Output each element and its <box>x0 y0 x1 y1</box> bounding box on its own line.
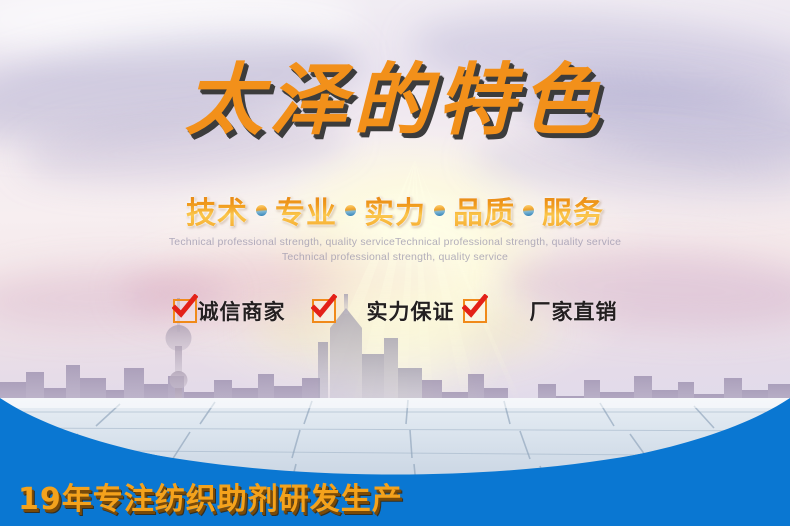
bottom-tagline: 19年专注纺织助剂研发生产 <box>18 474 403 518</box>
bullet-sphere-icon <box>434 205 445 216</box>
english-tagline-line-1: Technical professional strength, quality… <box>0 236 790 248</box>
subtitle-word-2: 专业 <box>275 188 337 232</box>
checkbox-checked-icon <box>173 299 197 323</box>
checkbox-checked-icon <box>463 299 487 323</box>
subtitle-word-1: 技术 <box>186 188 248 232</box>
english-tagline-line-2: Technical professional strength, quality… <box>0 251 790 263</box>
trust-badge-2-label: 实力保证 <box>367 296 455 326</box>
bullet-sphere-icon <box>523 205 534 216</box>
subtitle-word-3: 实力 <box>364 188 426 232</box>
trust-badge-3: 厂家直销 <box>463 296 618 326</box>
trust-badge-3-label: 厂家直销 <box>530 296 618 326</box>
subtitle-word-5: 服务 <box>542 188 604 232</box>
cloud-streak <box>0 0 360 60</box>
bullet-sphere-icon <box>256 205 267 216</box>
checkbox-checked-icon <box>312 299 336 323</box>
trust-badge-1-label: 诚信商家 <box>198 296 286 326</box>
banner-title: 太泽的特色 <box>0 62 790 140</box>
trust-badge-1: 诚信商家 <box>173 296 286 326</box>
trust-badge-row: 诚信商家 实力保证 厂家直销 <box>0 296 790 326</box>
bullet-sphere-icon <box>345 205 356 216</box>
subtitle-word-4: 品质 <box>453 188 515 232</box>
trust-badge-2: 实力保证 <box>312 296 455 326</box>
subtitle-keyword-row: 技术 专业 实力 品质 服务 <box>0 188 790 232</box>
promo-banner: 太泽的特色 技术 专业 实力 品质 服务 Technical professio… <box>0 0 790 526</box>
